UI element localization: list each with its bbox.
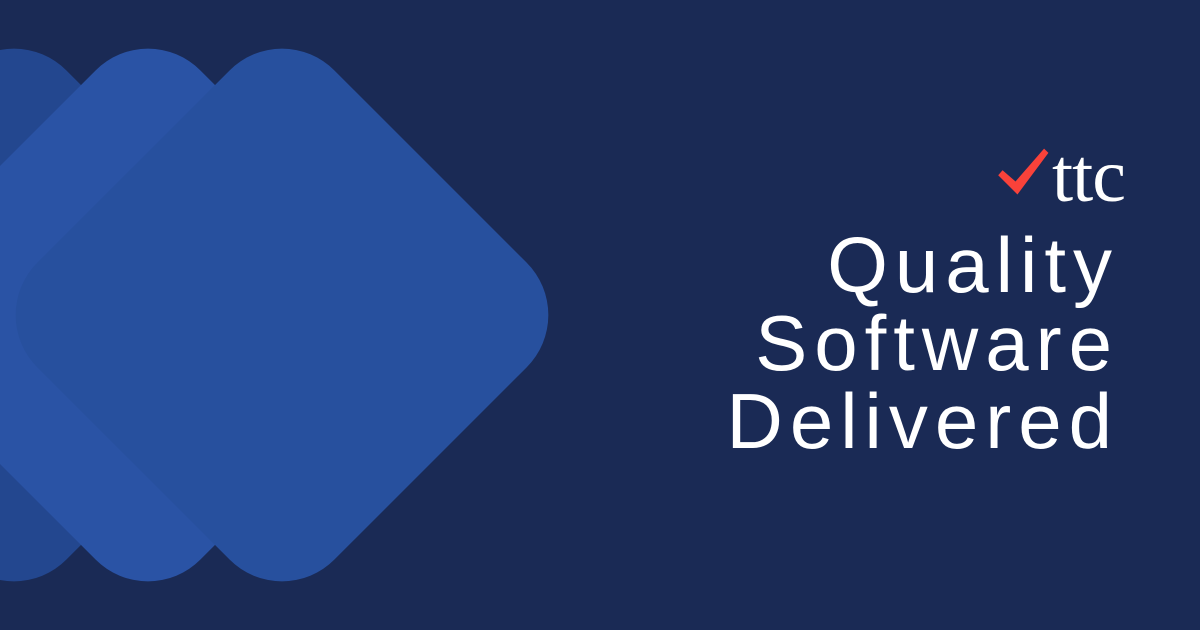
card-content: ttc Quality Software Delivered	[565, 0, 1125, 630]
page-title: Quality Software Delivered	[565, 226, 1125, 460]
brand-logo: ttc	[992, 138, 1125, 210]
brand-wordmark: ttc	[1052, 138, 1125, 214]
layered-chevron-graphic	[0, 0, 660, 630]
headline-line-3: Delivered	[565, 382, 1125, 460]
red-checkmark-icon	[992, 143, 1054, 205]
headline-line-2: Software	[565, 304, 1125, 382]
social-card: ttc Quality Software Delivered	[0, 0, 1200, 630]
headline-line-1: Quality	[565, 226, 1125, 304]
